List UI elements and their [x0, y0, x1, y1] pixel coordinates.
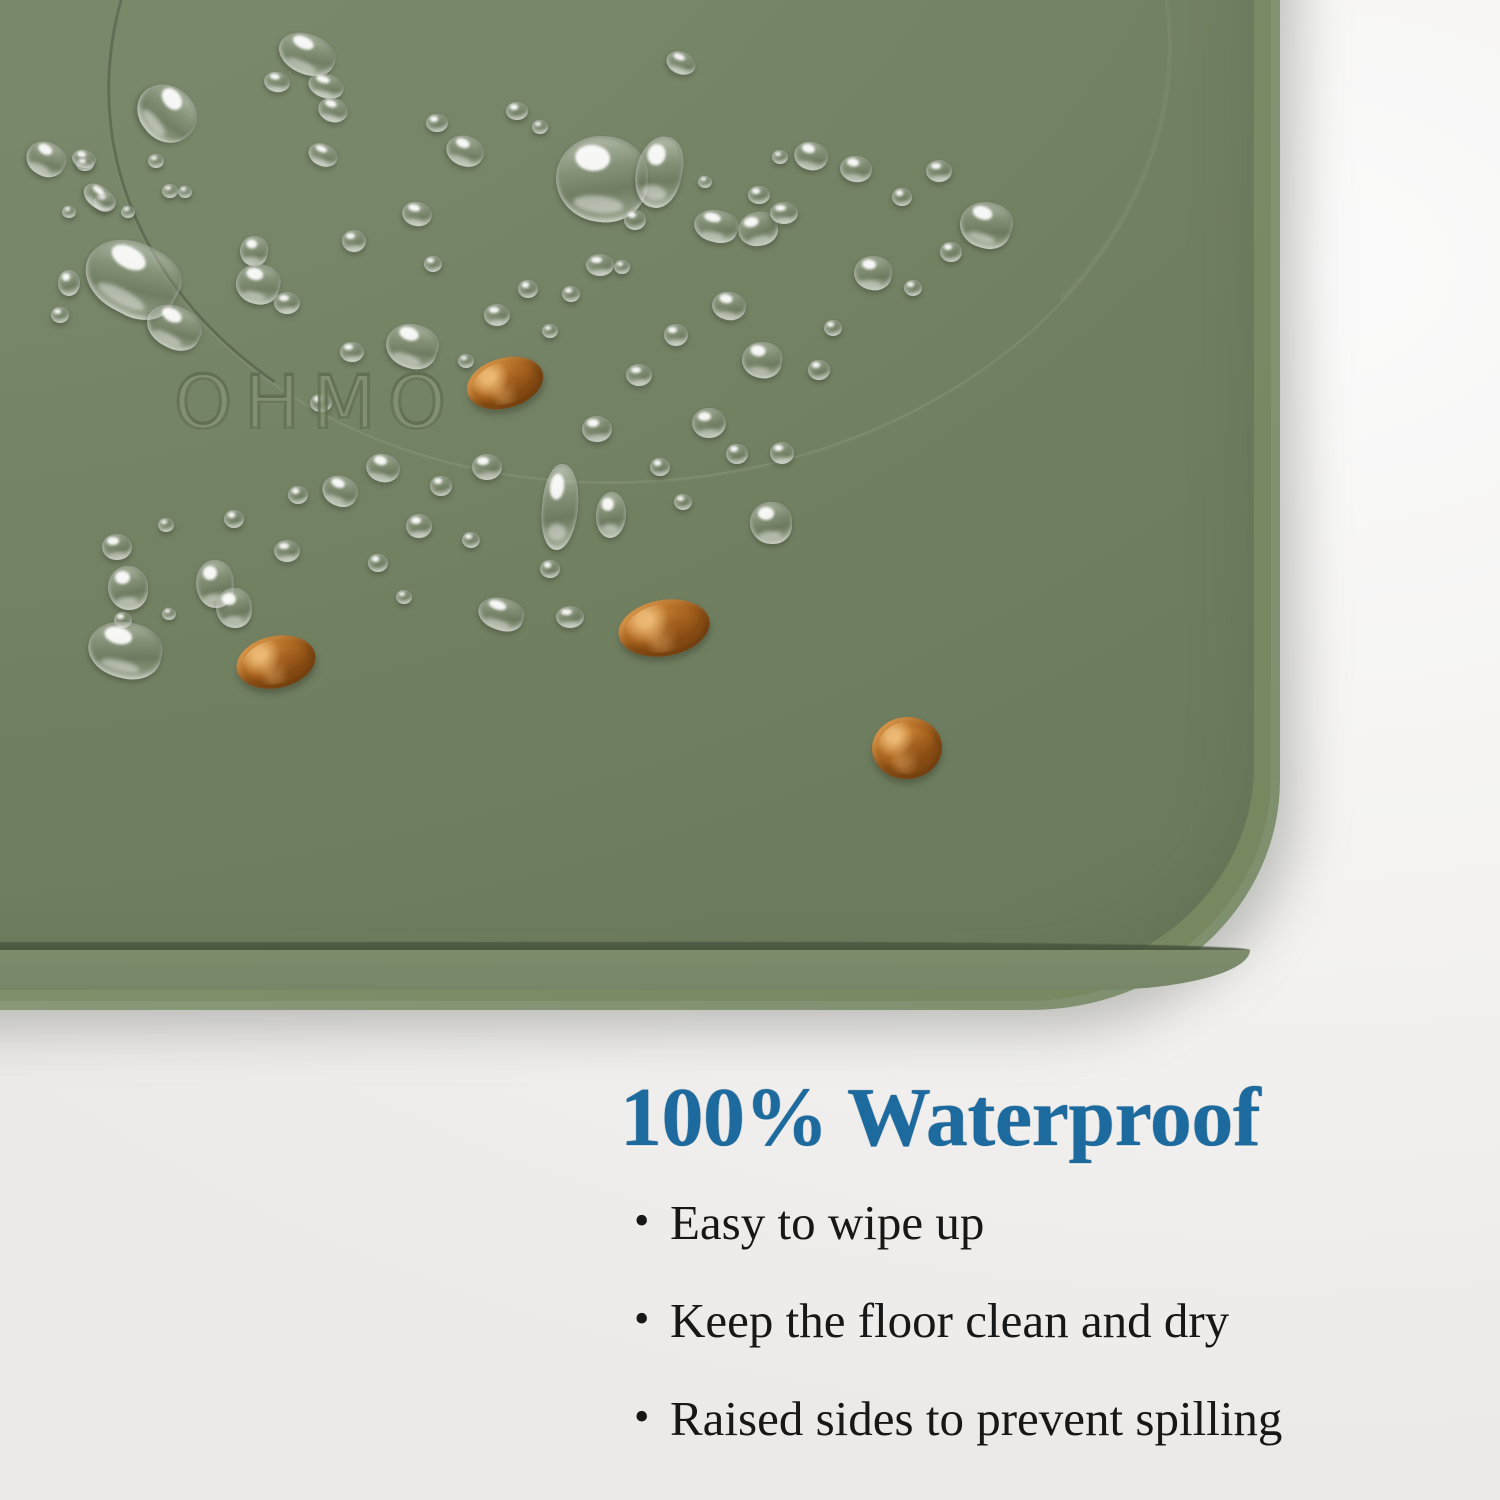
water-droplet [518, 280, 538, 298]
water-droplet [582, 416, 612, 442]
water-droplet [556, 606, 584, 628]
water-droplet [178, 186, 192, 198]
water-droplet [121, 206, 135, 218]
mat-top-surface: OHMO [0, 0, 1254, 980]
water-droplet [472, 454, 502, 480]
water-droplet [426, 114, 448, 132]
water-droplet [562, 286, 580, 302]
bullet-marker-icon: • [634, 1199, 649, 1243]
water-droplet [484, 304, 510, 326]
kibble-piece [614, 592, 714, 663]
water-droplet [396, 590, 412, 604]
water-droplet [82, 614, 167, 686]
water-droplet [926, 160, 952, 182]
water-droplet [750, 502, 792, 544]
water-droplet [770, 442, 794, 464]
water-droplet [424, 256, 442, 272]
feature-bullet-text: Easy to wipe up [670, 1195, 984, 1250]
water-droplet [458, 354, 474, 368]
bullet-marker-icon: • [634, 1297, 649, 1341]
water-droplet [340, 342, 364, 362]
water-droplet [650, 458, 670, 476]
water-droplet [904, 280, 922, 296]
water-droplet [664, 324, 688, 346]
water-droplet [224, 510, 244, 528]
water-droplet [692, 408, 726, 438]
water-droplet [20, 134, 72, 183]
water-droplet [274, 540, 300, 562]
water-droplet [158, 518, 174, 532]
pet-feeding-mat: OHMO [0, 0, 1280, 1010]
water-droplet [506, 102, 528, 120]
water-droplet [594, 491, 627, 539]
water-droplet [102, 534, 132, 560]
water-droplet [824, 320, 842, 336]
ohmo-brand-logo: OHMO [174, 360, 458, 446]
water-droplet [698, 176, 712, 188]
water-droplet [770, 202, 798, 224]
water-droplet [940, 242, 962, 262]
kibble-piece [231, 628, 320, 695]
water-droplet [317, 470, 362, 512]
water-droplet [108, 566, 148, 610]
water-droplet [274, 292, 300, 314]
water-droplet [624, 210, 646, 230]
water-droplet [62, 206, 76, 218]
water-droplet [430, 476, 452, 496]
water-droplet [462, 532, 480, 548]
water-droplet [586, 254, 614, 276]
water-droplet [614, 260, 630, 274]
mat-thickness-band [0, 950, 1250, 990]
feature-bullet-item: •Easy to wipe up [632, 1198, 1492, 1247]
water-droplet [542, 324, 558, 338]
water-droplet [674, 494, 692, 510]
bullet-marker-icon: • [634, 1395, 649, 1439]
water-droplet [342, 230, 366, 252]
water-droplet [58, 270, 80, 296]
water-droplet [892, 188, 912, 206]
water-droplet [368, 554, 388, 572]
feature-bullet-list: •Easy to wipe up•Keep the floor clean an… [632, 1198, 1492, 1492]
water-droplet [406, 514, 432, 538]
kibble-piece [870, 715, 944, 782]
water-droplet [148, 154, 164, 168]
water-droplet [808, 360, 830, 380]
water-droplet [162, 184, 178, 198]
water-droplet [726, 444, 748, 464]
feature-bullet-item: •Keep the floor clean and dry [632, 1296, 1492, 1345]
water-droplet [216, 588, 252, 628]
water-droplet [474, 592, 528, 637]
water-droplet [162, 608, 176, 620]
water-droplet [540, 560, 560, 578]
feature-bullet-text: Raised sides to prevent spilling [670, 1391, 1282, 1446]
headline-waterproof: 100% Waterproof [620, 1076, 1460, 1160]
water-droplet [363, 450, 403, 486]
water-droplet [288, 486, 308, 504]
feature-bullet-item: •Raised sides to prevent spilling [632, 1394, 1492, 1443]
water-droplet [51, 307, 69, 323]
water-droplet [626, 364, 652, 386]
mat-bowl-indent-line [66, 0, 1213, 533]
water-droplet [76, 157, 94, 171]
water-droplet [532, 120, 548, 134]
water-droplet [772, 150, 788, 164]
feature-bullet-text: Keep the floor clean and dry [670, 1293, 1229, 1348]
product-marketing-image: OHMO 100% Waterproof •Easy to wipe up•Ke… [0, 0, 1500, 1500]
water-droplet [748, 186, 770, 204]
